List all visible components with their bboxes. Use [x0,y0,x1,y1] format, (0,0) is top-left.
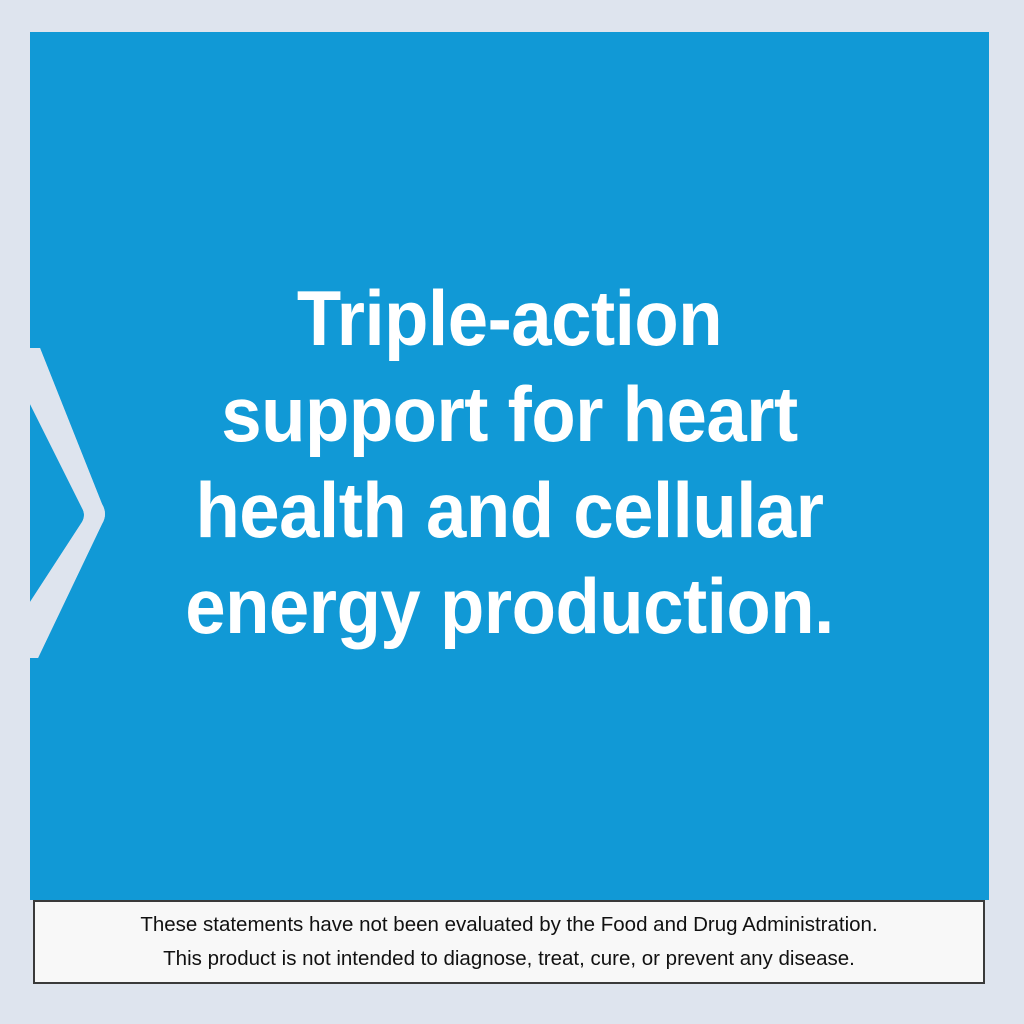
disclaimer-line-2: This product is not intended to diagnose… [163,942,855,976]
headline-line-4: energy production. [64,558,956,654]
disclaimer-box: These statements have not been evaluated… [33,900,985,984]
headline-line-3: health and cellular [64,462,956,558]
headline-line-1: Triple-action [64,270,956,366]
headline: Triple-action support for heart health a… [64,270,956,654]
promo-graphic-canvas: Triple-action support for heart health a… [0,0,1024,1024]
headline-line-2: support for heart [64,366,956,462]
disclaimer-line-1: These statements have not been evaluated… [140,908,877,942]
